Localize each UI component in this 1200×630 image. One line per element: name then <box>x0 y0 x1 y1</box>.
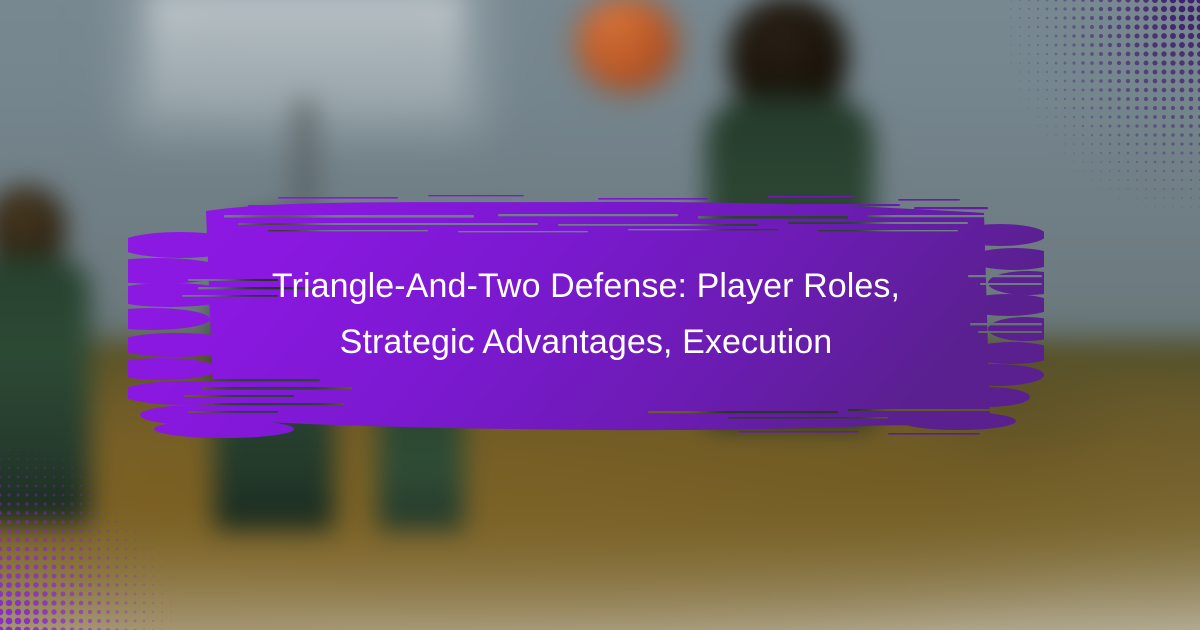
title-banner: Triangle-And-Two Defense: Player Roles, … <box>128 183 1044 445</box>
player-body <box>0 256 90 524</box>
banner-title: Triangle-And-Two Defense: Player Roles, … <box>128 183 1044 445</box>
title-line-2: Strategic Advantages, Execution <box>340 315 833 369</box>
basketball-backboard <box>150 0 462 112</box>
banner-canvas: Triangle-And-Two Defense: Player Roles, … <box>0 0 1200 630</box>
basketball <box>578 0 676 90</box>
basketball-seam <box>588 40 666 56</box>
title-line-1: Triangle-And-Two Defense: Player Roles, <box>272 259 900 313</box>
